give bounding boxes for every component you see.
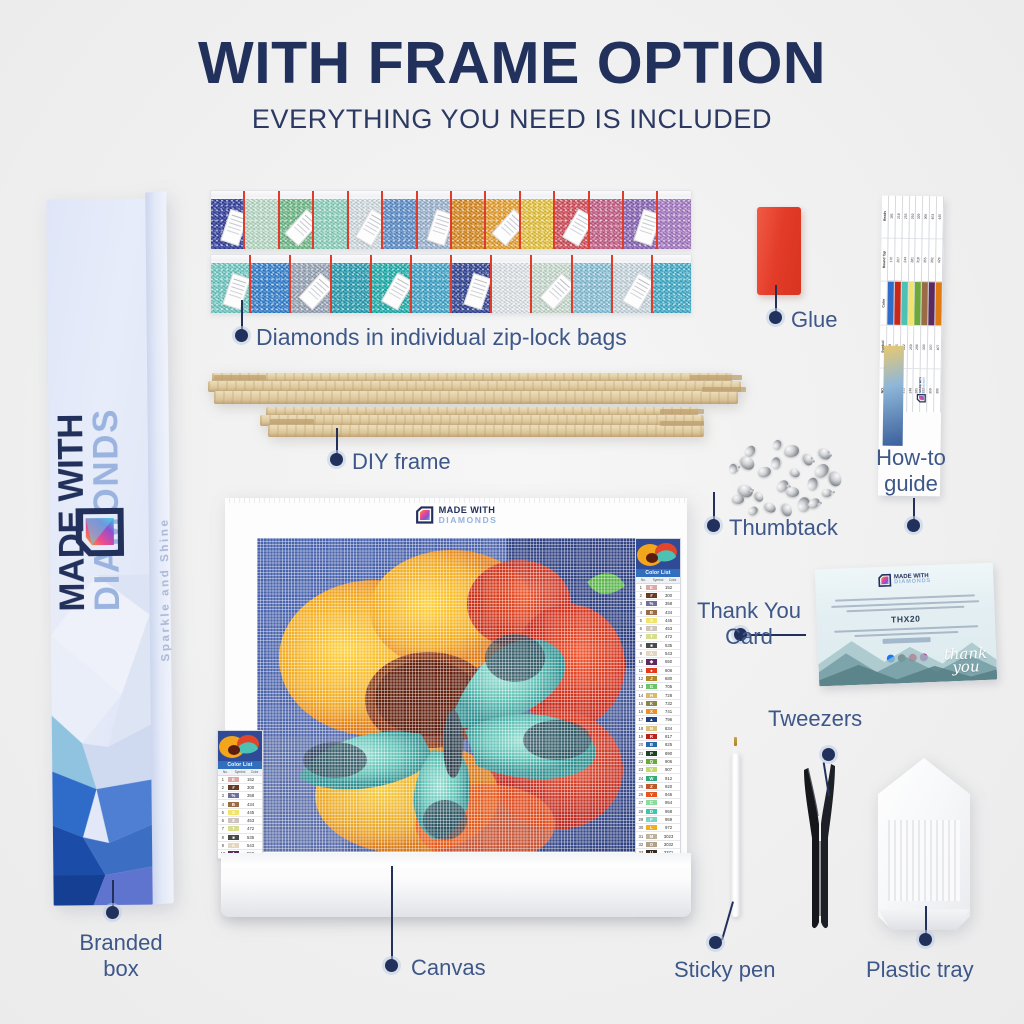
callout-label-glue: Glue [791,307,837,333]
callout-dot-sticky-pen [709,936,722,949]
zip-lock-bag-row-bottom [210,254,692,314]
bag-zip-seal [573,255,611,261]
color-row-number: 7 [218,826,228,831]
callout-label-thank-you-card: Thank You Card [684,598,814,650]
thank-you-card-product: MADE WITH DIAMONDS THX20 thank you [815,563,997,687]
color-row-code: 954 [657,800,680,805]
color-list-row: 29F959 [636,816,680,824]
color-list-row: 25Z920 [636,783,680,791]
color-list-row: 9A543 [636,650,680,658]
zip-lock-bag [532,255,572,313]
color-list-row: 68453 [218,817,262,825]
leader-line-diy-frame [336,428,338,456]
zip-lock-bag [653,255,691,313]
guide-table-cell: 296 [914,325,920,369]
brand-tagline: Sparkle and Shine [157,389,173,790]
diamond-beads [251,263,289,313]
color-list-row: 7T472 [218,825,262,833]
bag-zip-seal [418,191,450,197]
callout-dot-canvas [385,959,398,972]
callout-label-thumbtack: Thumbtack [729,515,838,541]
color-row-swatch: T [228,826,239,831]
color-list-row: 13G705 [636,683,680,691]
guide-table-cell: 281 [908,238,914,282]
color-list-row: 22Q906 [636,758,680,766]
guide-table-cell: 355 [922,238,928,282]
guide-table-cell: 429 [936,238,942,282]
color-list-row: 5S445 [636,617,680,625]
glue-product [757,207,801,295]
color-list-row: 21P890 [636,750,680,758]
guide-table-cell: 259 [907,325,913,369]
color-row-code: 946 [657,792,680,797]
zip-lock-bag [245,191,279,249]
bag-zip-seal [492,255,530,261]
artwork-thumbnail [218,731,262,761]
zip-lock-bag [555,191,589,249]
zip-lock-bag [211,255,251,313]
guide-table-cell: 248 [907,368,913,412]
color-list-row: 16X741 [636,708,680,716]
color-row-swatch: % [228,793,239,798]
zip-lock-bag [291,255,331,313]
color-row-number: 9 [636,651,646,656]
color-row-code: 434 [239,802,262,807]
color-list-row: 7T472 [636,633,680,641]
color-row-code: 434 [657,610,680,615]
guide-table-cell: 403 [930,196,936,238]
guide-table-cell: 333 [921,325,927,369]
thumbtack-icon [806,477,818,492]
bag-zip-seal [624,191,656,197]
color-row-code: 907 [657,767,680,772]
callout-label-sticky-pen: Sticky pen [674,957,776,983]
color-row-code: 606 [657,668,680,673]
color-row-number: 27 [636,800,646,805]
color-list-row: 1E152 [218,776,262,784]
color-row-code: 834 [657,726,680,731]
zip-lock-bag [492,255,532,313]
color-row-code: 300 [657,593,680,598]
color-row-swatch: V [646,767,657,772]
callout-dot-diy-frame [330,453,343,466]
color-list-row: 18N834 [636,725,680,733]
color-list-row: 14H728 [636,691,680,699]
zip-lock-bag-row-top [210,190,692,250]
color-row-number: 30 [636,825,646,830]
diamond-beads [314,199,346,249]
color-row-code: 959 [657,817,680,822]
color-row-code: 705 [657,684,680,689]
color-list-row: 15K732 [636,700,680,708]
color-row-number: 12 [636,676,646,681]
color-row-swatch: S [228,810,239,815]
bag-zip-seal [613,255,651,261]
diamond-beads [332,263,370,313]
color-list-row: 11●606 [636,667,680,675]
color-row-swatch: Y [646,792,657,797]
bag-zip-seal [452,191,484,197]
color-row-code: 543 [657,651,680,656]
svg-text:DIAMONDS: DIAMONDS [922,377,926,393]
color-row-code: 972 [657,825,680,830]
col-symbol: Symbol [233,769,248,774]
bag-zip-seal [486,191,518,197]
color-list-row: 3%358 [636,600,680,608]
guide-table-cell: 318 [915,238,921,282]
diamond-beads [573,263,611,313]
color-row-number: 11 [636,668,646,673]
color-list-row: 23V907 [636,766,680,774]
color-row-code: 472 [657,634,680,639]
color-row-code: 958 [657,809,680,814]
thumbtack-icon [828,470,843,488]
brand-logo-icon [75,506,129,560]
thumbtack-icon [732,495,744,504]
thumbtack-icon [738,454,757,472]
color-row-swatch: P [646,751,657,756]
bag-zip-seal [452,255,490,261]
col-symbol: Symbol [651,577,666,582]
color-row-number: 31 [636,834,646,839]
bag-zip-seal [251,255,289,261]
zip-lock-bag [452,191,486,249]
color-row-swatch: L [646,825,657,830]
color-row-swatch: ■ [228,835,239,840]
canvas-rolled-edge [221,853,691,917]
guide-table-cell: Round Typ [881,237,887,281]
color-row-number: 4 [636,610,646,615]
zip-lock-bag [658,191,690,249]
guide-table-cell [935,282,941,326]
callout-dot-tweezers [822,748,835,761]
color-row-number: 13 [636,684,646,689]
thumbtack-icon [753,491,765,504]
guide-table-cell: 170 [888,237,894,281]
color-list-row: 5S445 [218,809,262,817]
color-row-swatch: R [646,734,657,739]
color-row-swatch: ● [646,668,657,673]
howto-guide-cover-photo [883,346,904,446]
diamond-beads [590,199,622,249]
guide-table-cell: 396 [934,369,940,413]
color-row-number: 15 [636,701,646,706]
color-row-swatch: ▲ [646,717,657,722]
color-row-swatch: W [646,776,657,781]
brand-logo-icon [415,506,434,525]
diy-frame-product [208,371,748,454]
color-row-code: 741 [657,709,680,714]
thumbtack-icon [772,439,783,451]
artwork-thumbnail [636,539,680,569]
callout-dot-zip-bags [235,329,248,342]
zip-lock-bag [486,191,520,249]
color-row-swatch: B [646,742,657,747]
color-row-swatch: H [646,693,657,698]
color-row-code: 472 [239,826,262,831]
callout-dot-plastic-tray [919,933,932,946]
diamond-beads [653,263,691,313]
color-row-swatch: N [646,726,657,731]
color-row-swatch: D [646,809,657,814]
color-row-number: 8 [636,643,646,648]
callout-label-tweezers: Tweezers [768,706,862,732]
guide-table-cell: 366 [923,196,929,238]
bag-zip-seal [372,255,410,261]
color-list-row: 4B434 [636,608,680,616]
color-list-title: Color List [218,761,262,769]
color-row-swatch: 8 [228,818,239,823]
color-row-number: 14 [636,693,646,698]
color-row-number: 26 [636,792,646,797]
callout-label-howto-guide: How-to guide [855,445,967,497]
color-row-swatch: E [646,585,657,590]
color-row-swatch: % [646,601,657,606]
color-row-code: 358 [657,601,680,606]
color-row-swatch: K [646,701,657,706]
callout-dot-glue [769,311,782,324]
bag-zip-seal [211,255,249,261]
color-row-number: 3 [218,793,228,798]
canvas-product: MADE WITH DIAMONDS [225,498,687,930]
color-row-code: 3032 [657,842,680,847]
color-list-title: Color List [636,569,680,577]
bag-zip-seal [658,191,690,197]
color-row-swatch: Z [646,784,657,789]
leader-line-thumbtack [713,492,715,522]
color-row-code: 680 [657,676,680,681]
guide-table-cell: 218 [895,196,901,238]
thumbtack-icon [762,501,777,515]
color-row-number: 29 [636,817,646,822]
zip-lock-bag [332,255,372,313]
color-row-swatch: J [646,676,657,681]
color-row-number: 17 [636,717,646,722]
thumbtack-icon [786,487,800,498]
callout-label-diy-frame: DIY frame [352,449,451,475]
color-list-row: 3%358 [218,792,262,800]
color-row-number: 7 [636,634,646,639]
color-row-code: 796 [657,717,680,722]
color-row-code: 3023 [657,834,680,839]
color-row-swatch: X [646,709,657,714]
color-row-swatch: M [646,834,657,839]
callout-label-branded-box: Branded box [56,930,186,982]
color-row-code: 550 [657,659,680,664]
canvas-brand-logo: MADE WITH DIAMONDS [225,506,687,525]
color-row-code: 890 [657,751,680,756]
guide-table-cell: 407 [935,325,941,369]
color-list-row: 12J680 [636,675,680,683]
color-row-number: 1 [636,585,646,590]
color-row-swatch: # [646,593,657,598]
zip-lock-bag [521,191,555,249]
guide-table-cell [908,281,914,325]
bag-zip-seal [590,191,622,197]
zip-lock-bag [412,255,452,313]
thank-you-script-text: thank you [944,647,988,673]
callout-label-plastic-tray: Plastic tray [866,957,974,983]
color-row-number: 23 [636,767,646,772]
color-row-code: 906 [657,759,680,764]
page-subtitle: EVERYTHING YOU NEED IS INCLUDED [0,106,1024,133]
zip-lock-bag [251,255,291,313]
color-list-row: 32O3032 [636,841,680,849]
canvas-sheet: MADE WITH DIAMONDS [225,498,687,868]
diamond-beads [658,199,690,249]
bag-zip-seal [280,191,312,197]
plastic-tray-product [874,758,974,930]
guide-table-cell: 370 [928,325,934,369]
color-row-number: 6 [218,818,228,823]
color-row-code: 453 [239,818,262,823]
color-list-panel-left: Color List No. Symbol Color 1E1522#3003%… [217,730,263,860]
color-row-swatch: B [646,610,657,615]
color-list-row: 10◆550 [636,658,680,666]
guide-table-cell: 392 [929,238,935,282]
color-row-swatch: 8 [646,626,657,631]
color-row-swatch: ◆ [646,659,657,665]
canvas-logo-line2: DIAMONDS [439,516,498,525]
color-row-number: 21 [636,751,646,756]
thumbtack-icon [789,467,801,478]
color-row-swatch: C [646,800,657,805]
color-row-number: 28 [636,809,646,814]
bag-zip-seal [383,191,415,197]
bag-zip-seal [412,255,450,261]
zip-lock-bag [418,191,452,249]
bag-zip-seal [245,191,277,197]
col-no: No. [218,769,233,774]
color-row-number: 25 [636,784,646,789]
color-row-number: 24 [636,776,646,781]
bag-zip-seal [332,255,370,261]
color-row-code: 453 [657,626,680,631]
zip-lock-bag [349,191,383,249]
bag-zip-seal [211,191,243,197]
brand-logo-icon: MADE WITH DIAMONDS [877,572,931,588]
page-title: WITH FRAME OPTION [0,34,1024,93]
color-row-swatch: A [646,651,657,656]
diamond-mosaic-grid-overlay [257,538,635,852]
guide-table-cell: Beads [882,196,888,238]
color-list-row: 30L972 [636,824,680,832]
color-row-number: 10 [636,659,646,664]
bag-zip-seal [521,191,553,197]
callout-dot-howto-guide [907,519,920,532]
thumbtack-icon [757,465,773,479]
zip-lock-bag [624,191,658,249]
guide-table-cell [901,281,907,325]
color-row-swatch: ■ [646,643,657,648]
color-row-number: 3 [636,601,646,606]
callout-label-zip-bags: Diamonds in individual zip-lock bags [256,324,627,351]
diamond-beads [492,263,530,313]
branded-box-front-face: MADE WITH DIAMONDS [46,199,152,906]
color-row-swatch: T [646,634,657,639]
zip-lock-bag [211,191,245,249]
zip-lock-bag [590,191,624,249]
bag-zip-seal [291,255,329,261]
guide-table-cell: 181 [888,196,894,238]
color-list-row: 1E152 [636,584,680,592]
callout-dot-branded-box [106,906,119,919]
brand-logo-icon: MADE WITH DIAMONDS [913,377,931,403]
color-row-code: 152 [657,585,680,590]
guide-table-cell [922,281,928,325]
callout-label-canvas: Canvas [411,955,486,981]
color-row-swatch: F [646,817,657,822]
color-row-swatch: A [228,843,239,848]
guide-table-cell: 440 [937,196,943,238]
leader-line-zip-bags [241,300,243,332]
guide-table-cell [894,281,900,325]
color-row-number: 5 [218,810,228,815]
color-list-row: 2#300 [636,592,680,600]
color-row-code: 535 [239,835,262,840]
guide-table-cell: 292 [909,196,915,238]
thumbtack-pin [829,491,835,495]
color-row-number: 1 [218,777,228,782]
zip-lock-bag [613,255,653,313]
guide-table-cell: 244 [902,237,908,281]
infographic-canvas: WITH FRAME OPTION EVERYTHING YOU NEED IS… [0,0,1024,1024]
color-row-number: 6 [636,626,646,631]
guide-table-cell: 207 [895,237,901,281]
col-color: Color [665,577,680,582]
color-list-row: 19R817 [636,733,680,741]
col-no: No. [636,577,651,582]
ty-logo-line2: DIAMONDS [894,579,931,586]
guide-table-cell [887,281,893,325]
color-row-swatch: E [228,777,239,782]
color-row-code: 825 [657,742,680,747]
color-row-swatch: B [228,802,239,807]
color-row-code: 535 [657,643,680,648]
zip-lock-bag [314,191,348,249]
branded-box-product: MADE WITH DIAMONDS Sparkle [46,192,174,910]
color-row-number: 22 [636,759,646,764]
diamond-beads [383,199,415,249]
thumbtack-icon [783,444,800,458]
sticky-pen-product [728,737,744,923]
color-row-code: 543 [239,843,262,848]
color-list-row: 28D958 [636,808,680,816]
color-list-row: 8■535 [636,642,680,650]
color-row-code: 445 [239,810,262,815]
color-row-code: 152 [239,777,262,782]
callout-dot-thumbtack [707,519,720,532]
tweezers-product [800,746,840,936]
guide-table-cell [929,281,935,325]
color-row-swatch: Q [646,759,657,764]
leader-line-glue [775,285,777,313]
color-list-row: 17▲796 [636,716,680,724]
color-row-number: 2 [218,785,228,790]
color-list-row: 31M3023 [636,832,680,840]
diamond-beads [412,263,450,313]
color-list-row: 26Y946 [636,791,680,799]
color-row-swatch: # [228,785,239,790]
color-row-code: 728 [657,693,680,698]
color-row-number: 16 [636,709,646,714]
color-list-row: 8■535 [218,834,262,842]
diamond-beads [521,199,553,249]
canvas-artwork-butterfly-sunflower [257,538,635,852]
color-row-swatch: S [646,618,657,623]
color-row-number: 32 [636,842,646,847]
diamond-beads [452,199,484,249]
